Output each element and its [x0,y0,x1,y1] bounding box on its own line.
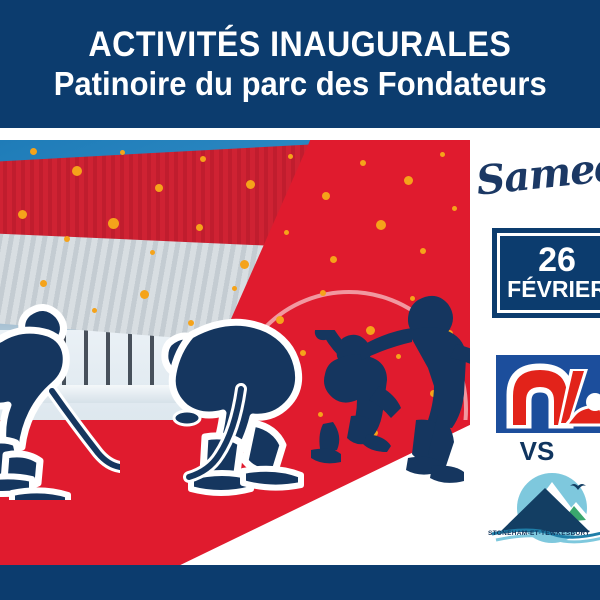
date-badge: 26 FÉVRIER [492,228,600,318]
rink-photo [0,140,470,565]
poster-header: ACTIVITÉS INAUGURALES Patinoire du parc … [0,0,600,128]
poster-root: ACTIVITÉS INAUGURALES Patinoire du parc … [0,0,600,600]
date-day: 26 [538,243,576,277]
stoneham-logo [490,468,600,550]
date-month: FÉVRIER [507,277,600,302]
hockey-player-right [145,305,325,505]
hockey-player-left [0,295,120,500]
versus-label: VS [502,436,572,467]
page-title: ACTIVITÉS INAUGURALES [89,27,512,63]
poster-footer [0,565,600,600]
adult-skater [360,290,470,485]
hockey-puck [172,409,202,427]
day-script-label: Samedi [474,142,600,204]
nordiques-logo [496,355,600,433]
stoneham-logo-caption: STONEHAM-ET-TEWKESBURY [488,530,600,537]
info-panel: Samedi 26 FÉVRIER VS [470,128,600,565]
page-subtitle: Patinoire du parc des Fondateurs [53,67,546,102]
